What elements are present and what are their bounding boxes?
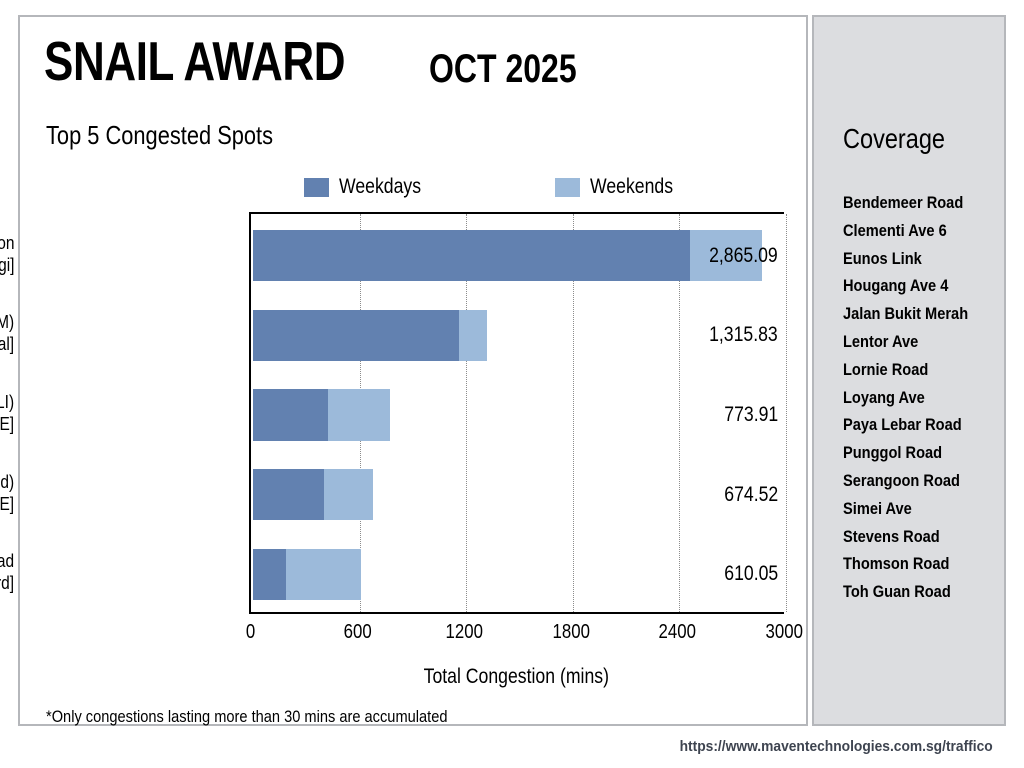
- bar-value-label: 2,865.09: [696, 245, 778, 267]
- footer-url[interactable]: https://www.maventechnologies.com.sg/tra…: [0, 738, 1006, 756]
- coverage-list-item: Toh Guan Road: [843, 578, 981, 606]
- coverage-list-item: Bendemeer Road: [843, 189, 981, 217]
- bar-row: 2,865.09: [251, 230, 784, 281]
- bar-segment-weekdays[interactable]: [253, 230, 690, 281]
- gridline: [786, 214, 787, 612]
- category-label: Toh Guan Road (IMM)[Towards Jurong East …: [0, 311, 14, 355]
- coverage-list-item: Hougang Ave 4: [843, 272, 981, 300]
- x-tick-label: 2400: [637, 621, 717, 643]
- bar-row: 610.05: [251, 549, 784, 600]
- bar-value-label: 610.05: [714, 563, 778, 585]
- bar-row: 674.52: [251, 469, 784, 520]
- coverage-sidebar: Coverage Bendemeer RoadClementi Ave 6Eun…: [812, 15, 1006, 726]
- category-label: Paya Lebar Road (LLI)[Towards PIE]: [0, 391, 14, 435]
- bar-segment-weekends[interactable]: [328, 389, 390, 440]
- footnote: *Only congestions lasting more than 30 m…: [46, 707, 513, 727]
- coverage-list-item: Stevens Road: [843, 523, 981, 551]
- coverage-list-item: Lornie Road: [843, 356, 981, 384]
- coverage-list-item: Punggol Road: [843, 439, 981, 467]
- report-card: SNAIL AWARD OCT 2025 Top 5 Congested Spo…: [18, 15, 808, 726]
- x-tick-label: 1200: [424, 621, 504, 643]
- coverage-list-item: Lentor Ave: [843, 328, 981, 356]
- bar-segment-weekends[interactable]: [324, 469, 373, 520]
- bar-row: 773.91: [251, 389, 784, 440]
- category-label: Loyang Ave - TPE Junction[Towards Changi…: [0, 232, 14, 276]
- stacked-bar[interactable]: [253, 549, 361, 600]
- coverage-list: Bendemeer RoadClementi Ave 6Eunos LinkHo…: [843, 189, 1003, 606]
- coverage-list-item: Serangoon Road: [843, 467, 981, 495]
- coverage-list-item: Thomson Road: [843, 550, 981, 578]
- stacked-bar[interactable]: [253, 310, 487, 361]
- coverage-list-item: Eunos Link: [843, 245, 981, 273]
- bar-value-label: 1,315.83: [696, 324, 778, 346]
- x-tick-label: 1800: [531, 621, 611, 643]
- coverage-title: Coverage: [843, 123, 945, 155]
- bar-segment-weekdays[interactable]: [253, 549, 286, 600]
- coverage-list-item: Clementi Ave 6: [843, 217, 981, 245]
- bar-series-container: 2,865.091,315.83773.91674.52610.05: [251, 214, 784, 612]
- bar-value-label: 674.52: [714, 484, 778, 506]
- coverage-list-item: Jalan Bukit Merah: [843, 300, 981, 328]
- stacked-bar[interactable]: [253, 230, 762, 281]
- bar-row: 1,315.83: [251, 310, 784, 361]
- x-axis-title: Total Congestion (mins): [249, 665, 784, 689]
- bar-segment-weekdays[interactable]: [253, 389, 328, 440]
- bar-segment-weekdays[interactable]: [253, 469, 324, 520]
- coverage-list-item: Simei Ave: [843, 495, 981, 523]
- x-tick-label: 600: [318, 621, 398, 643]
- bar-value-label: 773.91: [714, 404, 778, 426]
- coverage-list-item: Loyang Ave: [843, 384, 981, 412]
- stacked-bar[interactable]: [253, 389, 390, 440]
- category-label: Stevens Road[Towards Orchard]: [0, 550, 14, 594]
- category-label: Thomson Road (Balestier Rd)[Towards PIE]: [0, 471, 14, 515]
- bar-segment-weekends[interactable]: [459, 310, 487, 361]
- bar-segment-weekdays[interactable]: [253, 310, 459, 361]
- stacked-bar[interactable]: [253, 469, 373, 520]
- bar-chart: 2,865.091,315.83773.91674.52610.05 Loyan…: [20, 17, 810, 728]
- bar-segment-weekends[interactable]: [286, 549, 362, 600]
- x-tick-label: 0: [211, 621, 291, 643]
- coverage-list-item: Paya Lebar Road: [843, 411, 981, 439]
- plot-area: 2,865.091,315.83773.91674.52610.05: [249, 212, 784, 614]
